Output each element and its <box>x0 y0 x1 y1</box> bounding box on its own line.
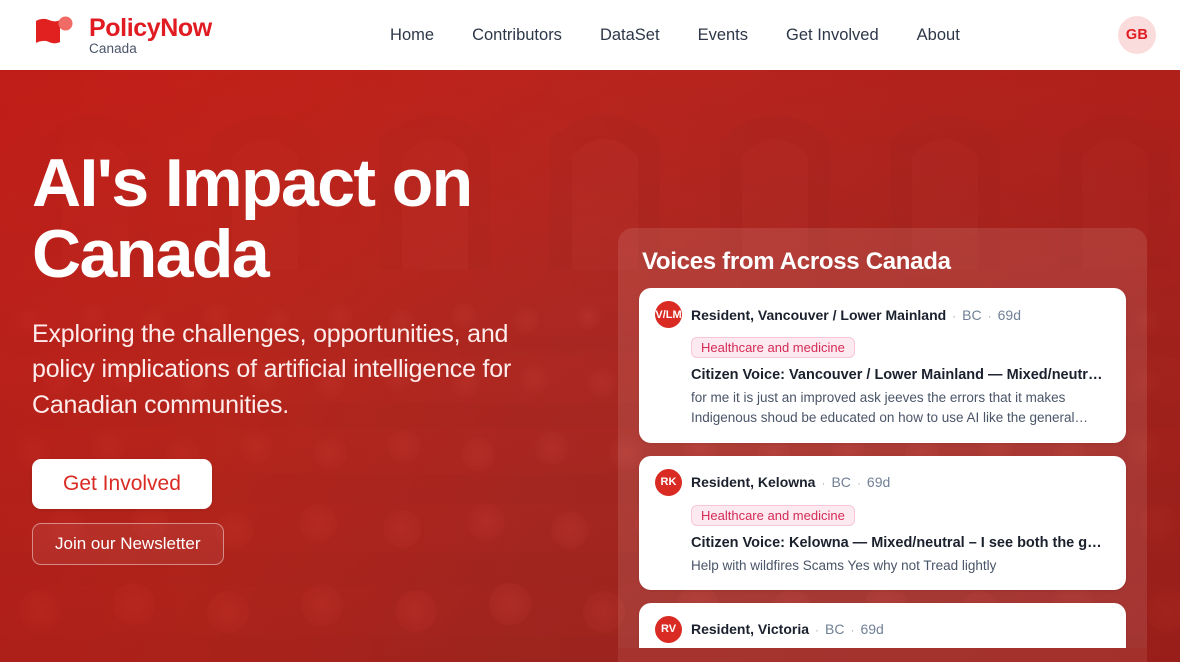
voice-body: Help with wildfires Scams Yes why not Tr… <box>691 556 1110 576</box>
page-title: AI's Impact on Canada <box>32 148 502 291</box>
hero-subtitle: Exploring the challenges, opportunities,… <box>32 317 542 424</box>
nav-item-about[interactable]: About <box>917 26 960 45</box>
nav-item-dataset[interactable]: DataSet <box>600 26 660 45</box>
separator-dot: · <box>988 309 992 323</box>
separator-dot: · <box>850 623 854 637</box>
voice-province: BC <box>831 474 850 490</box>
site-header: PolicyNow Canada Home Contributors DataS… <box>0 0 1180 70</box>
voice-headline: Citizen Voice: Kelowna — Mixed/neutral –… <box>691 535 1110 551</box>
voice-author: Resident, Victoria <box>691 621 809 637</box>
separator-dot: · <box>821 476 825 490</box>
voices-scroll-container[interactable]: V/LM Resident, Vancouver / Lower Mainlan… <box>618 288 1147 648</box>
voice-age: 69d <box>998 307 1021 323</box>
voice-body: for me it is just an improved ask jeeves… <box>691 388 1110 429</box>
voice-card[interactable]: RV Resident, Victoria · BC · 69d Not sur… <box>639 603 1126 648</box>
status-badge: Healthcare and medicine <box>691 337 855 358</box>
voice-age: 69d <box>867 474 890 490</box>
avatar: RV <box>655 616 682 643</box>
flag-bookmark-icon <box>32 15 78 55</box>
voice-card[interactable]: V/LM Resident, Vancouver / Lower Mainlan… <box>639 288 1126 443</box>
voices-footer-stat: 1,011 Canadians have shared their though… <box>618 648 1147 662</box>
separator-dot: · <box>857 476 861 490</box>
voice-age: 69d <box>860 621 883 637</box>
voice-author: Resident, Kelowna <box>691 474 815 490</box>
voice-province: BC <box>825 621 844 637</box>
voice-card[interactable]: RK Resident, Kelowna · BC · 69d Healthca… <box>639 456 1126 590</box>
status-badge: Healthcare and medicine <box>691 505 855 526</box>
avatar: RK <box>655 469 682 496</box>
separator-dot: · <box>952 309 956 323</box>
brand-logo[interactable]: PolicyNow Canada <box>32 15 212 56</box>
voices-panel-title: Voices from Across Canada <box>618 228 1147 288</box>
voice-province: BC <box>962 307 981 323</box>
get-involved-button[interactable]: Get Involved <box>32 459 212 509</box>
voices-panel: Voices from Across Canada V/LM Resident,… <box>618 228 1147 662</box>
hero-action-buttons: Get Involved Join our Newsletter <box>32 459 632 565</box>
main-navigation: Home Contributors DataSet Events Get Inv… <box>232 26 1118 45</box>
separator-dot: · <box>815 623 819 637</box>
brand-subtitle: Canada <box>89 42 212 56</box>
nav-item-contributors[interactable]: Contributors <box>472 26 562 45</box>
join-newsletter-button[interactable]: Join our Newsletter <box>32 523 224 565</box>
user-avatar[interactable]: GB <box>1118 16 1156 54</box>
brand-title: PolicyNow <box>89 15 212 41</box>
hero-section: AI's Impact on Canada Exploring the chal… <box>0 70 1180 662</box>
nav-item-events[interactable]: Events <box>698 26 748 45</box>
nav-item-home[interactable]: Home <box>390 26 434 45</box>
avatar: V/LM <box>655 301 682 328</box>
nav-item-get-involved[interactable]: Get Involved <box>786 26 879 45</box>
voice-author: Resident, Vancouver / Lower Mainland <box>691 307 946 323</box>
voice-headline: Citizen Voice: Vancouver / Lower Mainlan… <box>691 367 1110 383</box>
